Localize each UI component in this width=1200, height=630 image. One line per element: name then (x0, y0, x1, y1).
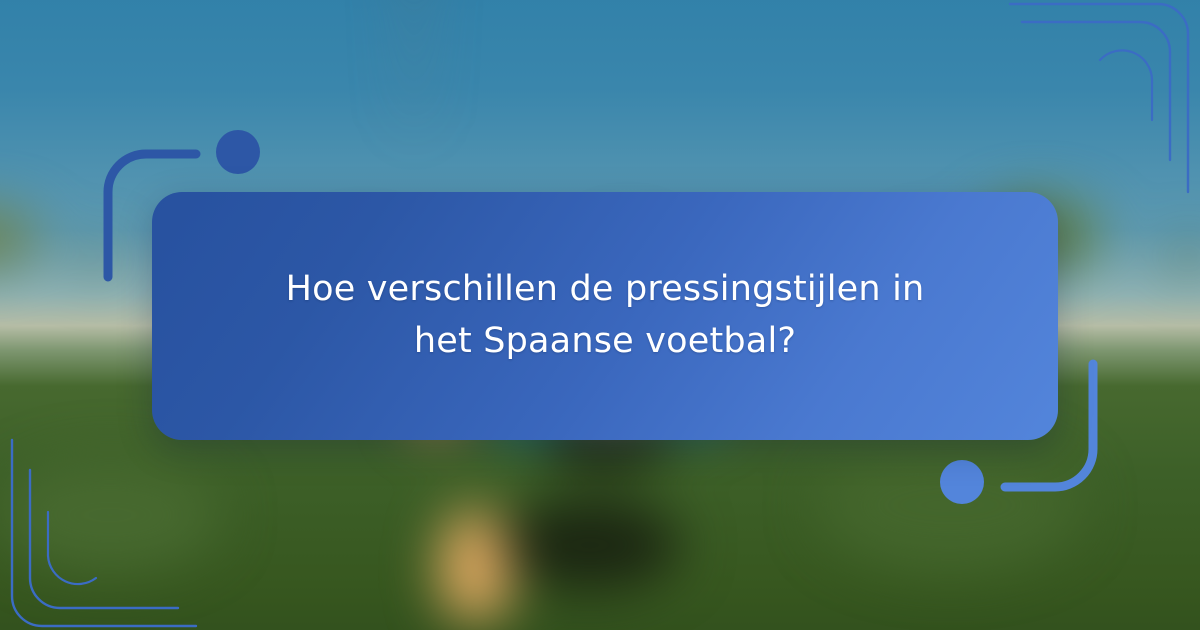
dark-shadow-bottom (500, 500, 680, 590)
accent-dot-bottom-right (940, 460, 984, 504)
accent-dot-top-left (216, 130, 260, 174)
question-card: Hoe verschillen de pressingstijlen in he… (152, 192, 1058, 440)
card-title: Hoe verschillen de pressingstijlen in he… (255, 264, 955, 368)
light-pole (406, 0, 422, 130)
grass-highlight-left (0, 460, 220, 570)
share-card-canvas: Hoe verschillen de pressingstijlen in he… (0, 0, 1200, 630)
orange-cone-near (440, 510, 512, 620)
